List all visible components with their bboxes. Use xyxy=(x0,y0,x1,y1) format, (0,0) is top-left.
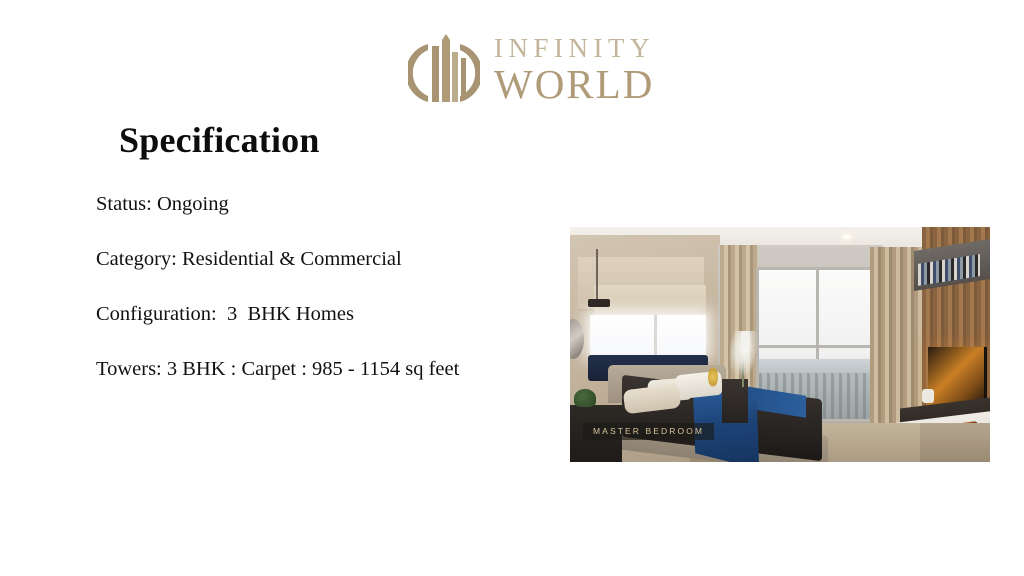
spec-item-status: Status: Ongoing xyxy=(96,191,526,246)
flower-arrangement xyxy=(730,331,760,383)
window-glass xyxy=(590,315,706,355)
window-mullion xyxy=(654,315,657,355)
brand-wordmark: INFINITY WORLD xyxy=(494,35,655,105)
brand-line-world: WORLD xyxy=(494,64,655,105)
side-table xyxy=(722,379,748,423)
spec-item-towers: Towers: 3 BHK : Carpet : 985 - 1154 sq f… xyxy=(96,356,526,411)
pendant-lamp-icon xyxy=(588,299,610,307)
brand-logo: INFINITY WORLD xyxy=(408,26,658,114)
downlight-icon xyxy=(842,235,851,239)
specification-list: Status: Ongoing Category: Residential & … xyxy=(96,191,526,411)
roman-blind-lower xyxy=(594,285,706,319)
door-rail xyxy=(756,345,878,348)
page-title: Specification xyxy=(119,119,320,161)
master-bedroom-render-image: MASTER BEDROOM xyxy=(570,227,990,462)
spec-item-configuration: Configuration: 3 BHK Homes xyxy=(96,301,526,356)
yellow-flowers xyxy=(708,367,718,387)
potted-plant xyxy=(574,389,596,407)
decor-vase xyxy=(922,389,934,403)
spec-item-category: Category: Residential & Commercial xyxy=(96,246,526,301)
infinity-world-tower-mark-icon xyxy=(408,30,480,110)
render-caption: MASTER BEDROOM xyxy=(583,423,714,440)
pendant-cord xyxy=(596,249,598,301)
render-scene: MASTER BEDROOM xyxy=(570,227,990,462)
brand-line-infinity: INFINITY xyxy=(494,35,655,62)
